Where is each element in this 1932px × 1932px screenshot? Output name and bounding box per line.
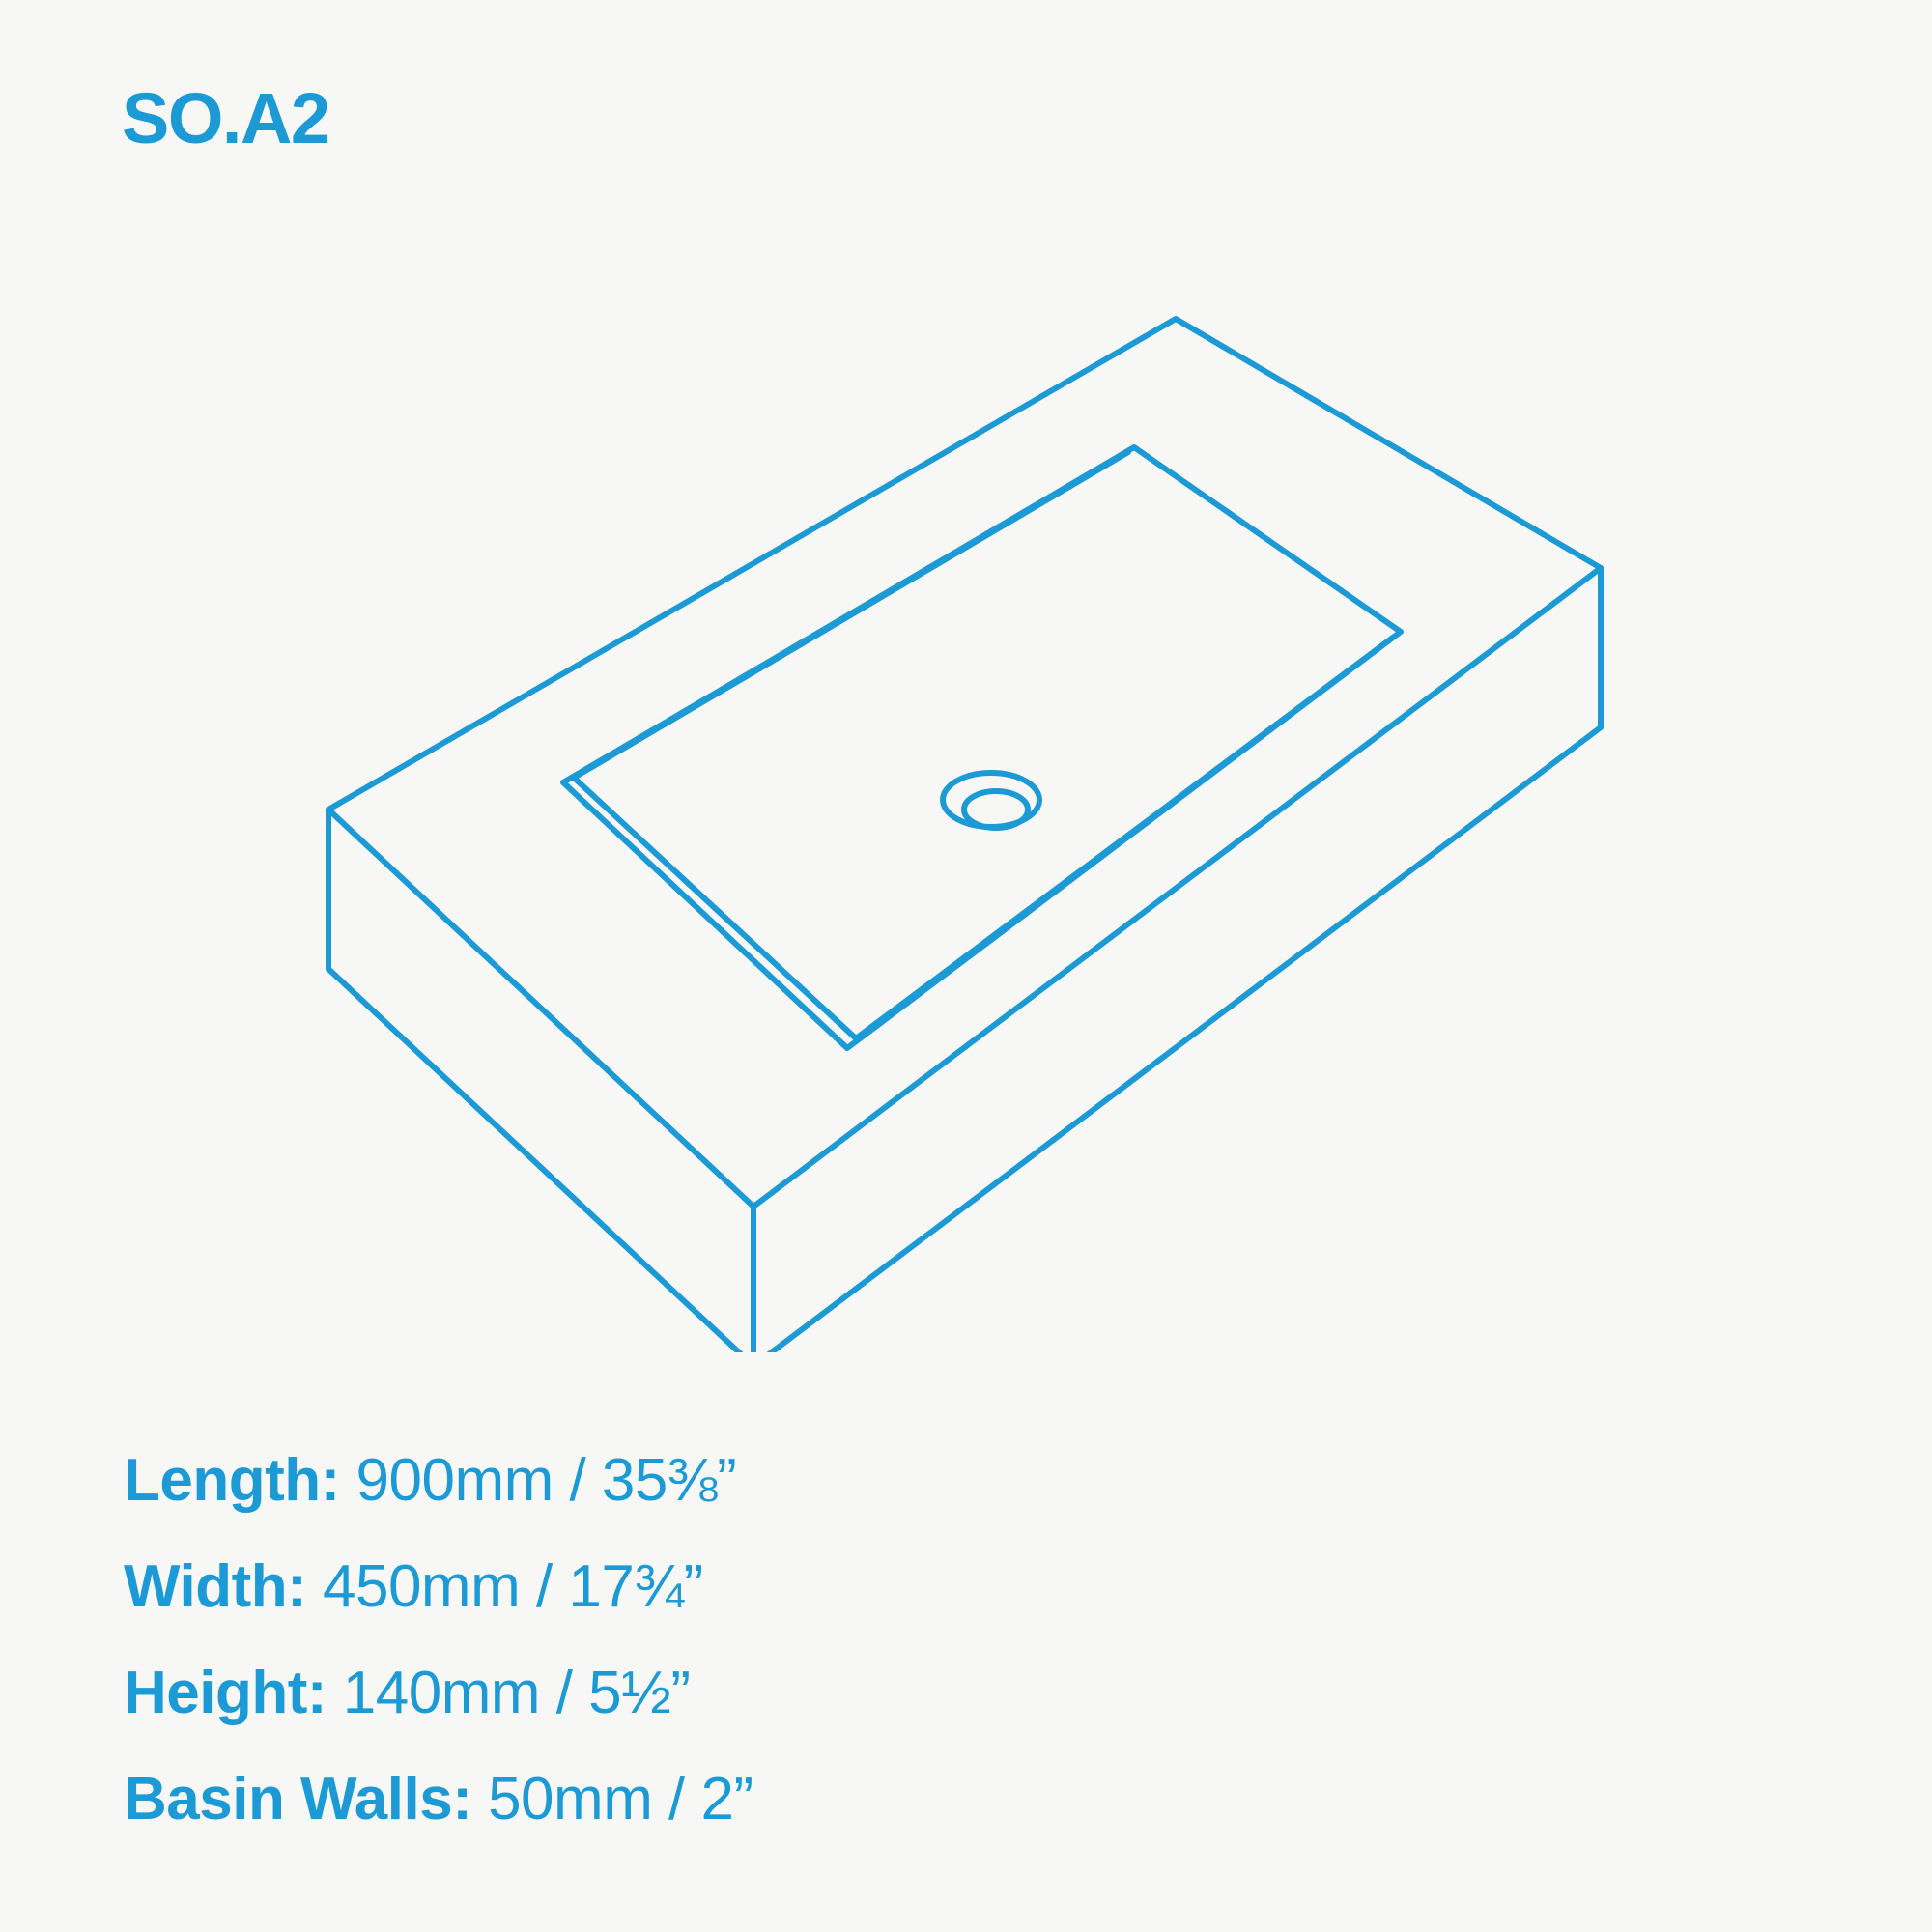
slab-bottom-left-edge (328, 969, 753, 1352)
product-drawing (0, 0, 1932, 1352)
spec-label-width: Width: (124, 1553, 306, 1620)
spec-value-basin-walls: 50mm / 2” (488, 1766, 753, 1833)
spec-label-basin-walls: Basin Walls: (124, 1766, 471, 1833)
spec-label-height: Height: (124, 1660, 327, 1726)
spec-row-height: Height: 140mm / 5½” (124, 1640, 1379, 1747)
spec-row-width: Width: 450mm / 17¾” (124, 1534, 1379, 1640)
drain-inner-ring (964, 791, 1028, 828)
spec-row-length: Length: 900mm / 35⅜” (124, 1428, 1379, 1534)
spec-label-length: Length: (124, 1447, 340, 1514)
spec-row-basin-walls: Basin Walls: 50mm / 2” (124, 1747, 1379, 1853)
sink-isometric-illustration (0, 0, 1932, 1352)
spec-sheet: SO.A2 (0, 0, 1932, 1932)
dimension-spec-list: Length: 900mm / 35⅜” Width: 450mm / 17¾”… (124, 1428, 1379, 1853)
spec-value-length: 900mm / 35⅜” (356, 1447, 737, 1514)
spec-value-width: 450mm / 17¾” (323, 1553, 703, 1620)
slab-bottom-right-edge (753, 727, 1601, 1352)
spec-value-height: 140mm / 5½” (343, 1660, 691, 1726)
slab-top-face (328, 319, 1601, 1207)
